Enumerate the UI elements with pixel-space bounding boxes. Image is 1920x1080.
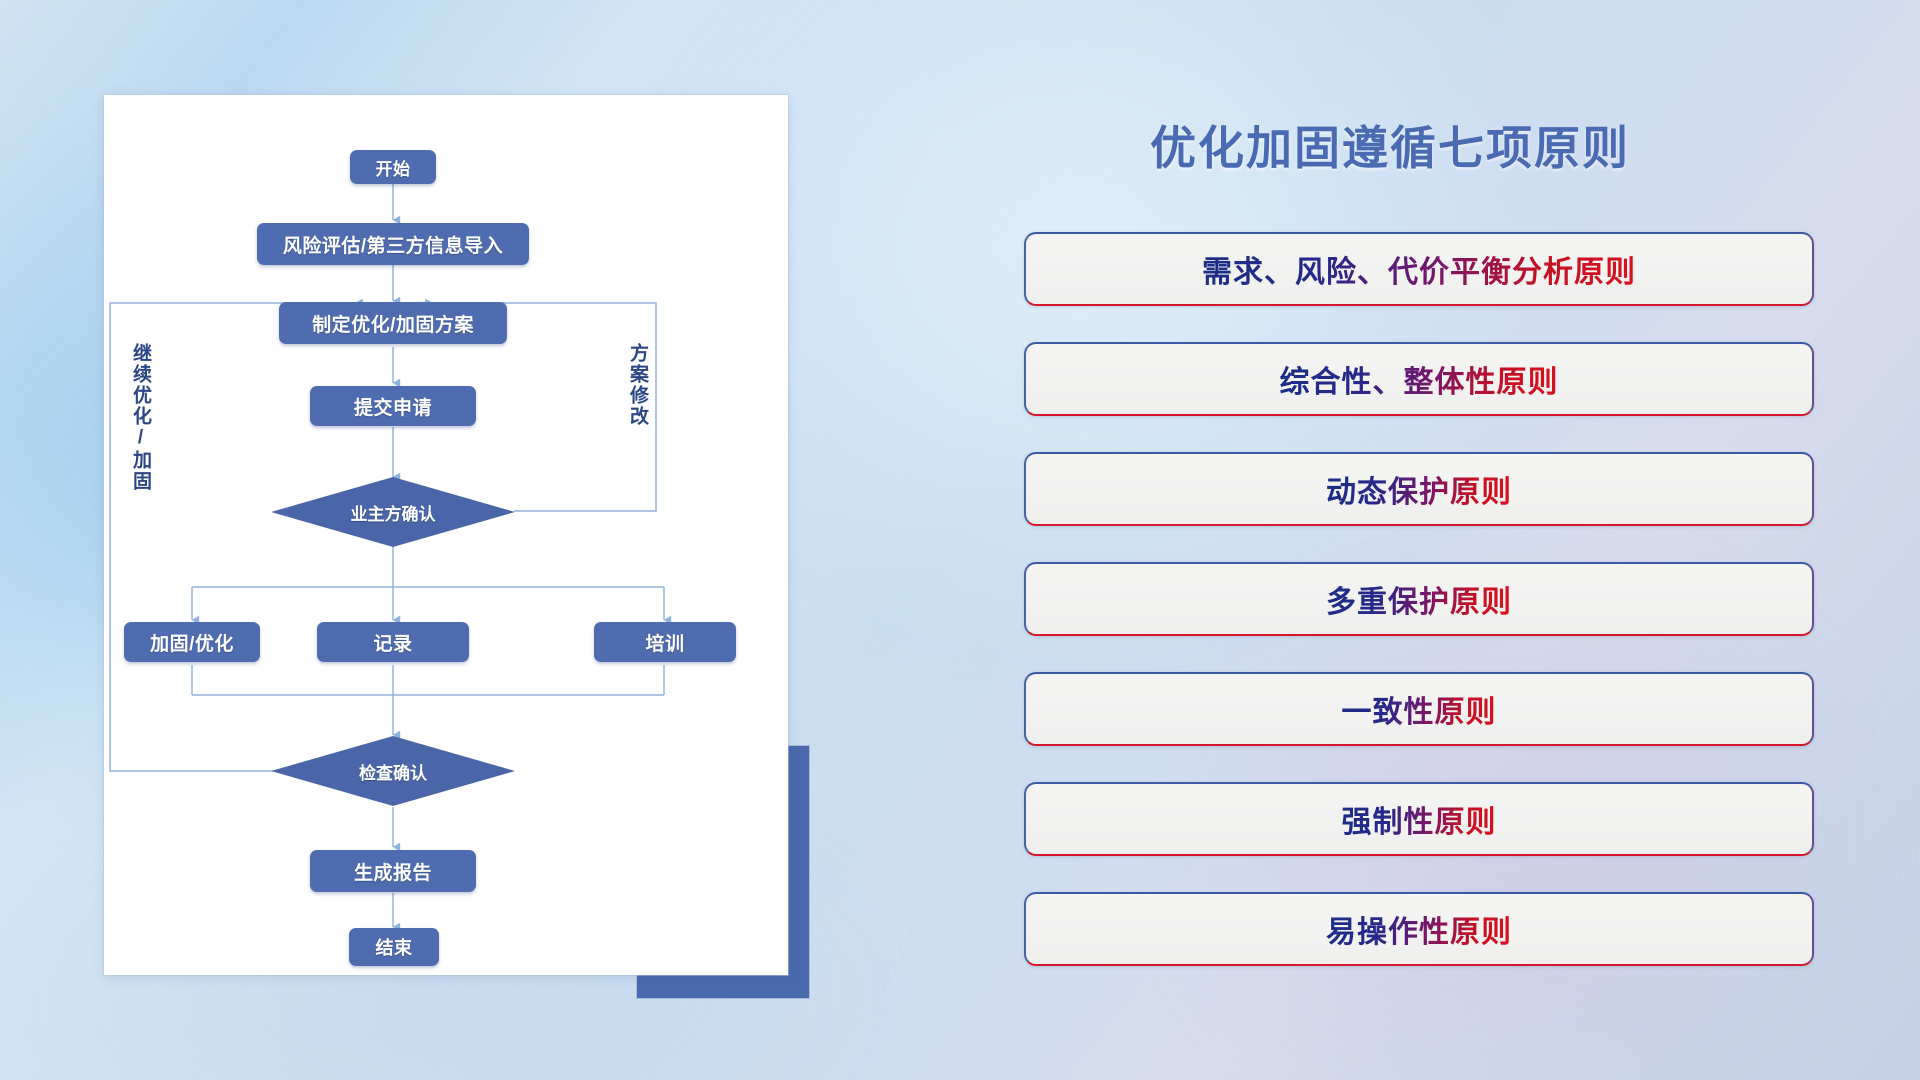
flow-node-start[interactable]: 开始 bbox=[350, 150, 436, 184]
principle-label: 多重保护原则 bbox=[1326, 577, 1512, 621]
flow-node-submit[interactable]: 提交申请 bbox=[310, 386, 476, 426]
flow-node-training[interactable]: 培训 bbox=[594, 622, 736, 662]
flow-node-record[interactable]: 记录 bbox=[317, 622, 469, 662]
flow-node-label: 提交申请 bbox=[354, 393, 432, 420]
flow-node-label: 业主方确认 bbox=[351, 500, 436, 525]
principle-card-2[interactable]: 综合性、整体性原则 bbox=[1024, 342, 1814, 416]
slide-canvas: 开始 风险评估/第三方信息导入 制定优化/加固方案 提交申请 业主方确认 加固/… bbox=[0, 0, 1920, 1080]
flow-node-report[interactable]: 生成报告 bbox=[310, 850, 476, 892]
flow-node-label: 培训 bbox=[645, 629, 684, 656]
flow-node-label: 制定优化/加固方案 bbox=[312, 310, 474, 337]
principle-card-6[interactable]: 强制性原则 bbox=[1024, 782, 1814, 856]
flow-edge-label-continue-optimize: 继续优化/加固 bbox=[127, 343, 154, 492]
principle-label: 一致性原则 bbox=[1342, 687, 1497, 731]
flowchart-card: 开始 风险评估/第三方信息导入 制定优化/加固方案 提交申请 业主方确认 加固/… bbox=[104, 95, 788, 975]
flow-node-label: 记录 bbox=[373, 629, 412, 656]
flow-node-label: 结束 bbox=[376, 934, 413, 960]
flow-node-label: 加固/优化 bbox=[150, 629, 234, 656]
flow-node-label: 检查确认 bbox=[359, 759, 427, 784]
principle-card-4[interactable]: 多重保护原则 bbox=[1024, 562, 1814, 636]
panel-title: 优化加固遵循七项原则 bbox=[1150, 112, 1630, 178]
flow-edge-label-plan-revision: 方案修改 bbox=[624, 343, 651, 427]
flow-node-risk-assessment[interactable]: 风险评估/第三方信息导入 bbox=[257, 223, 529, 265]
principle-card-7[interactable]: 易操作性原则 bbox=[1024, 892, 1814, 966]
principle-label: 综合性、整体性原则 bbox=[1280, 357, 1559, 401]
flow-node-label: 风险评估/第三方信息导入 bbox=[283, 231, 503, 258]
principles-list: 需求、风险、代价平衡分析原则 综合性、整体性原则 动态保护原则 多重保护原则 一… bbox=[1024, 232, 1814, 1002]
flow-node-label: 生成报告 bbox=[354, 858, 432, 885]
principle-label: 需求、风险、代价平衡分析原则 bbox=[1202, 247, 1636, 291]
principle-card-1[interactable]: 需求、风险、代价平衡分析原则 bbox=[1024, 232, 1814, 306]
principle-card-3[interactable]: 动态保护原则 bbox=[1024, 452, 1814, 526]
flow-node-plan[interactable]: 制定优化/加固方案 bbox=[279, 302, 507, 344]
principle-label: 强制性原则 bbox=[1342, 797, 1497, 841]
flow-node-reinforce[interactable]: 加固/优化 bbox=[124, 622, 260, 662]
principle-label: 易操作性原则 bbox=[1326, 907, 1512, 951]
principle-label: 动态保护原则 bbox=[1326, 467, 1512, 511]
flow-node-end[interactable]: 结束 bbox=[349, 928, 439, 966]
flow-node-label: 开始 bbox=[376, 155, 411, 180]
principle-card-5[interactable]: 一致性原则 bbox=[1024, 672, 1814, 746]
principles-panel: 优化加固遵循七项原则 需求、风险、代价平衡分析原则 综合性、整体性原则 动态保护… bbox=[1020, 0, 1840, 1080]
